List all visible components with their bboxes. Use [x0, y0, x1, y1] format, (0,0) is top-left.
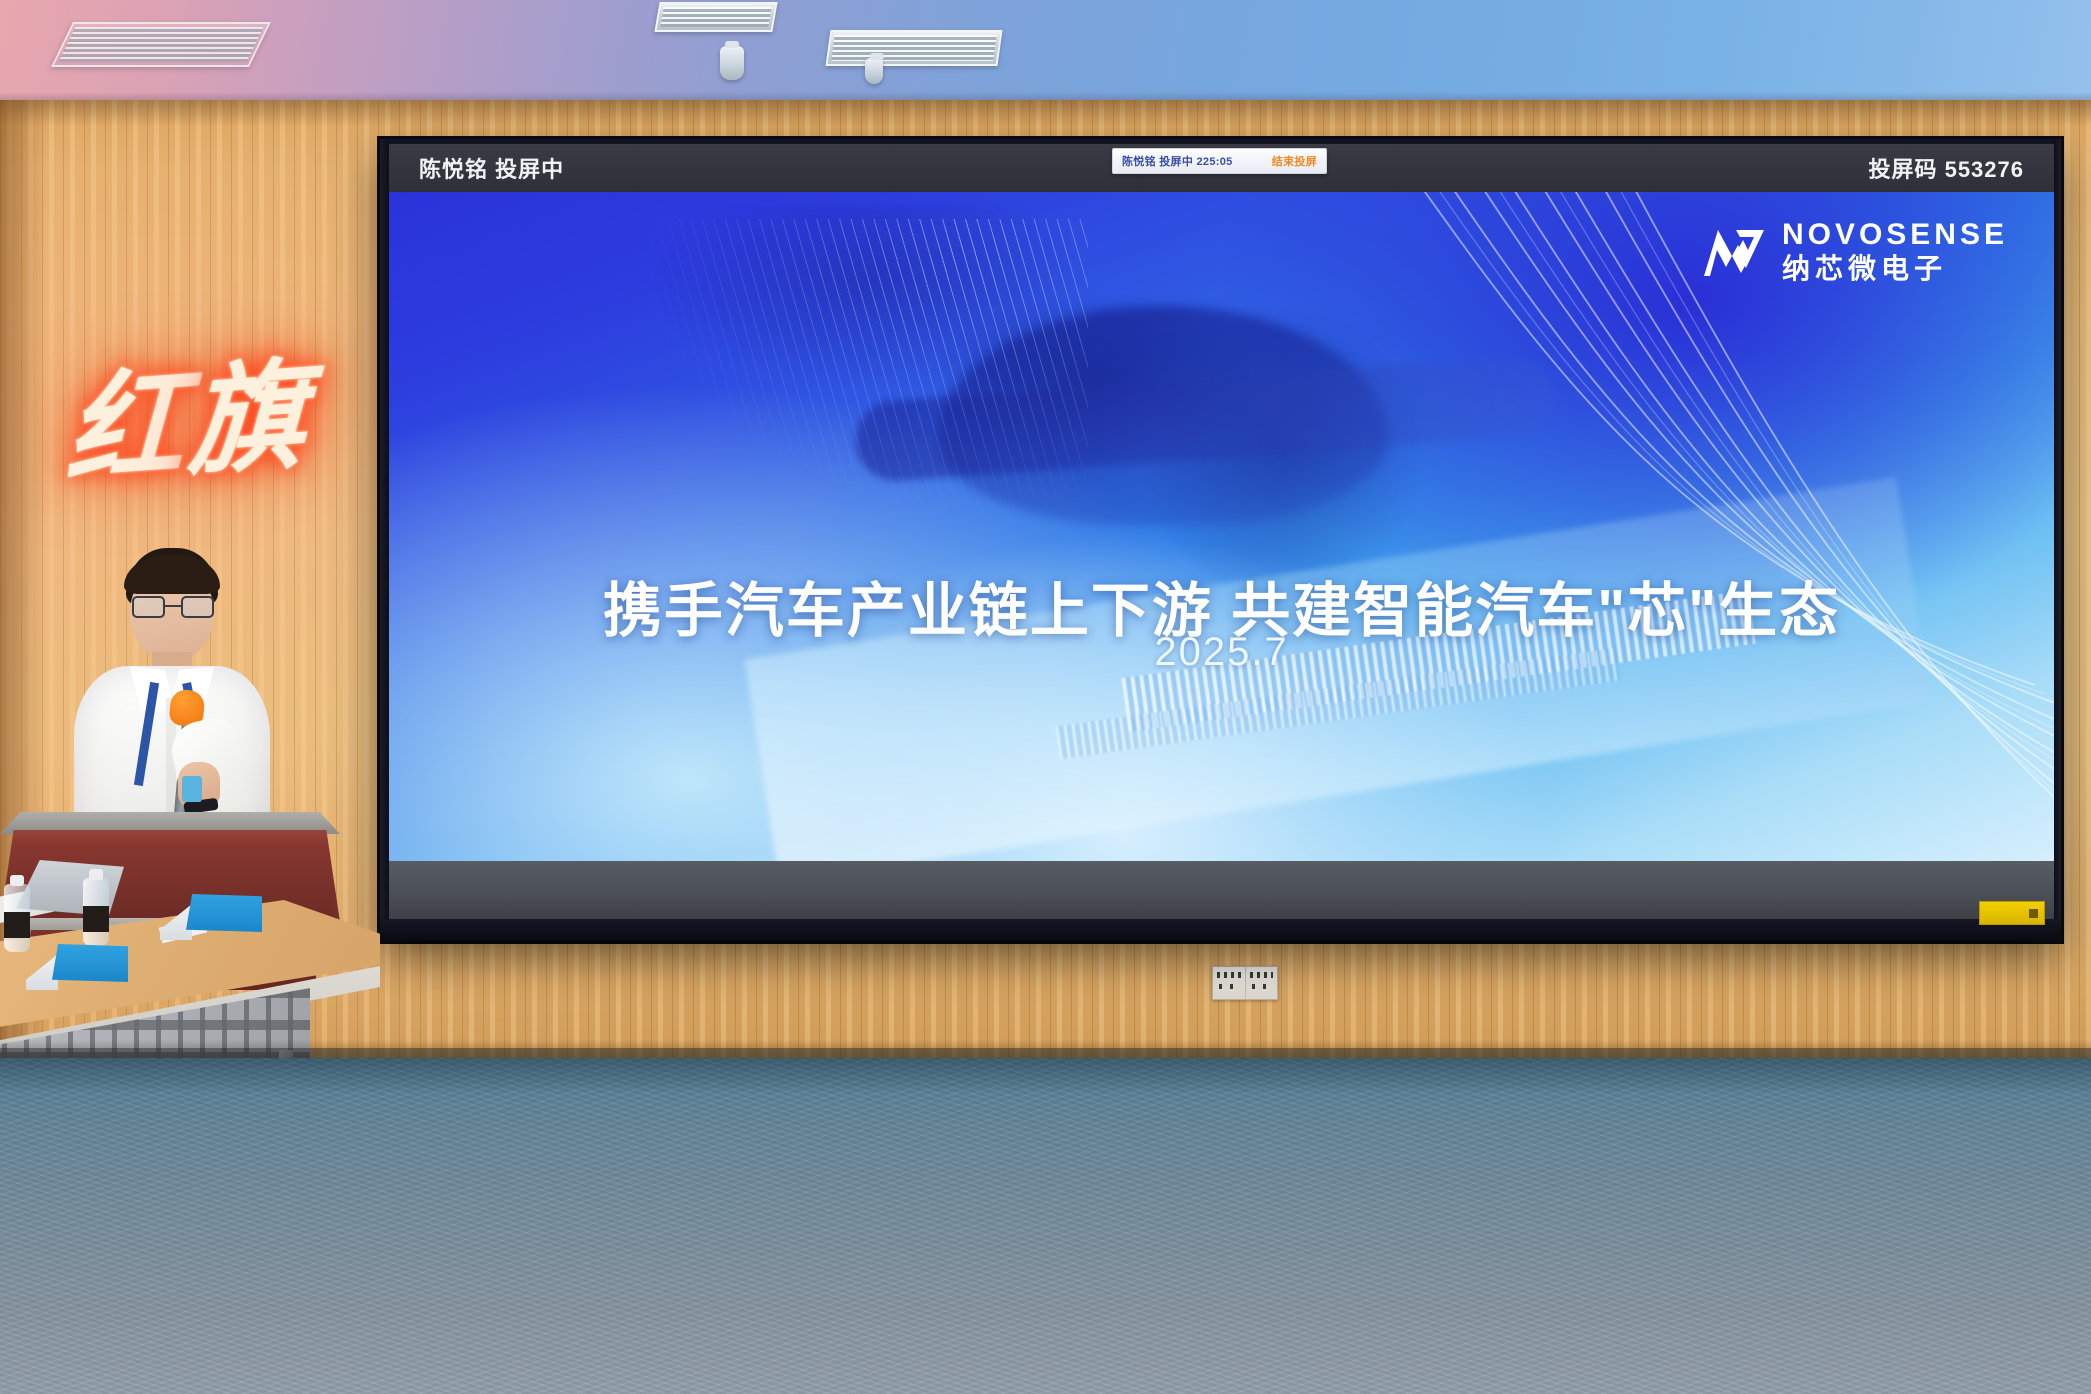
switch-row-bottom	[1219, 984, 1239, 989]
switch-row-bottom-2	[1252, 984, 1272, 989]
name-tent-card-1	[52, 944, 128, 990]
screen-yellow-label	[1979, 901, 2045, 925]
glasses-bridge	[165, 605, 181, 607]
tent-card-face-1	[52, 944, 128, 982]
ceiling-light-fixture-2	[865, 58, 883, 84]
glasses-lens-right	[181, 596, 214, 618]
tent-card-face-2	[186, 894, 262, 932]
novosense-logo-text: NOVOSENSE 纳芯微电子	[1782, 220, 2008, 283]
cast-presenter-status: 陈悦铭 投屏中	[419, 152, 564, 184]
neon-char-hong: 红	[64, 365, 190, 492]
screen-bezel-right	[2054, 139, 2061, 941]
slide-date: 2025.7	[389, 630, 2054, 675]
screen-bezel-bottom	[380, 919, 2061, 941]
bottle-cap-1	[10, 875, 24, 886]
slide-light-fan	[489, 219, 1088, 794]
novosense-logo-english: NOVOSENSE	[1782, 220, 2008, 250]
mini-cast-banner[interactable]: 陈悦铭 投屏中 225:05 结束投屏	[1112, 148, 1327, 174]
water-bottle-2	[83, 878, 109, 946]
screen-lower-matte-strip	[389, 861, 2054, 919]
id-badge	[182, 776, 202, 802]
cast-code-label: 投屏码 553276	[1868, 152, 2024, 184]
conference-room-photo: 红 旗 陈悦铭 投屏中 投屏码 553276	[0, 0, 2091, 1394]
bottle-label-1	[4, 912, 30, 938]
switch-row-top	[1217, 972, 1241, 978]
ceiling-vent-middle	[654, 2, 777, 32]
ceiling-light-fixture	[720, 46, 744, 80]
switch-row-top-2	[1250, 972, 1274, 978]
switch-group-right[interactable]	[1245, 967, 1278, 999]
presenter-glasses	[132, 596, 214, 618]
presentation-slide: 携手汽车产业链上下游 共建智能汽车"芯"生态 2025.7 NOVOSENSE …	[389, 192, 2054, 861]
bottle-cap-2	[89, 869, 103, 880]
carpet-floor	[0, 1058, 2091, 1394]
ceiling	[0, 0, 2091, 108]
novosense-logo-chinese: 纳芯微电子	[1782, 255, 2008, 283]
novosense-logo: NOVOSENSE 纳芯微电子	[1702, 220, 2008, 283]
end-cast-button[interactable]: 结束投屏	[1272, 153, 1317, 169]
floor-shadow	[0, 1048, 2091, 1094]
mini-cast-status: 陈悦铭 投屏中 225:05	[1122, 153, 1233, 169]
led-display-screen[interactable]: 陈悦铭 投屏中 投屏码 553276	[380, 139, 2061, 941]
novosense-mark-icon	[1702, 226, 1766, 278]
switch-group-left[interactable]	[1213, 967, 1245, 999]
bottle-label-2	[83, 906, 109, 932]
wall-top-shadow	[0, 100, 2091, 126]
hongqi-neon-sign: 红 旗	[64, 352, 298, 499]
neon-char-qi: 旗	[186, 357, 312, 484]
name-tent-card-2	[186, 894, 262, 940]
ceiling-vent-left	[51, 22, 271, 67]
glasses-lens-left	[132, 596, 165, 618]
slide-light-streaks	[1288, 192, 2054, 861]
wall-switch-panel[interactable]	[1212, 966, 1278, 1000]
water-bottle-1	[4, 884, 30, 952]
screen-bezel-left	[380, 139, 389, 941]
ceiling-vent-right	[825, 30, 1002, 66]
